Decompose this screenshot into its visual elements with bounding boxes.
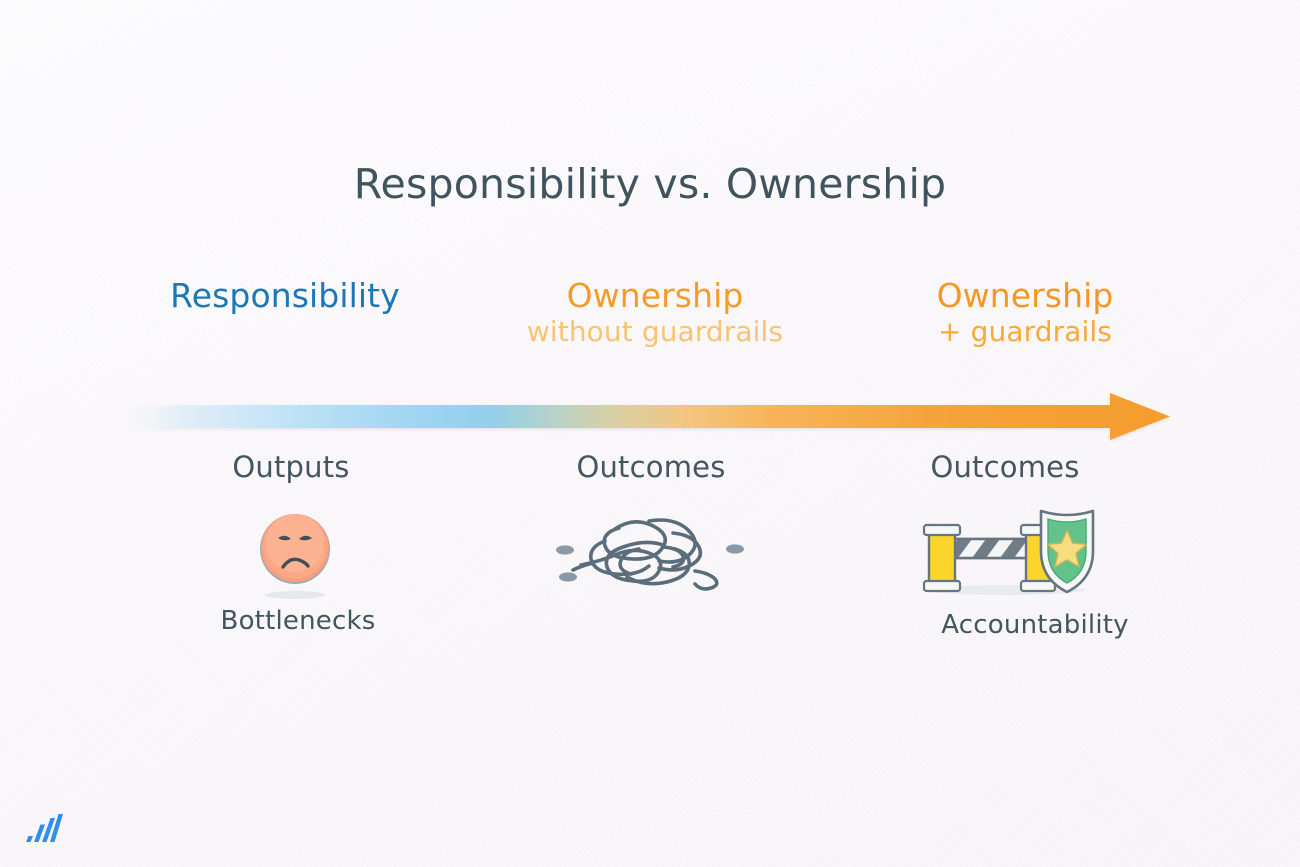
bottom-label-bottlenecks: Bottlenecks (108, 606, 488, 636)
barrier-shield-icon (910, 498, 1115, 603)
brand-logo[interactable] (24, 811, 64, 845)
column-header-ownership-with-guardrails: Ownership + guardrails (845, 277, 1205, 348)
mid-label-outputs: Outputs (101, 450, 481, 484)
gradient-progression-arrow (120, 392, 1190, 442)
tangled-knot-icon (553, 503, 753, 603)
barrier-shield-icon-slot (905, 495, 1120, 605)
bottom-label-accountability: Accountability (845, 610, 1225, 640)
column-heading-ownership-with: Ownership (845, 277, 1205, 316)
mid-label-outcomes-middle: Outcomes (461, 450, 841, 484)
slide-canvas: Responsibility vs. Ownership Responsibil… (0, 0, 1300, 867)
page-title: Responsibility vs. Ownership (0, 160, 1300, 208)
column-heading-responsibility: Responsibility (95, 277, 475, 316)
column-subheading-ownership-with: + guardrails (845, 316, 1205, 349)
column-heading-ownership-without: Ownership (465, 277, 845, 316)
sad-face-icon-slot (195, 500, 395, 605)
sad-face-icon (252, 505, 338, 601)
mid-label-outcomes-right: Outcomes (825, 450, 1185, 484)
brand-logo-icon (24, 811, 64, 845)
column-header-responsibility: Responsibility (95, 277, 475, 316)
tangled-knot-icon-slot (545, 500, 760, 605)
column-header-ownership-without-guardrails: Ownership without guardrails (465, 277, 845, 348)
column-subheading-ownership-without: without guardrails (465, 316, 845, 349)
